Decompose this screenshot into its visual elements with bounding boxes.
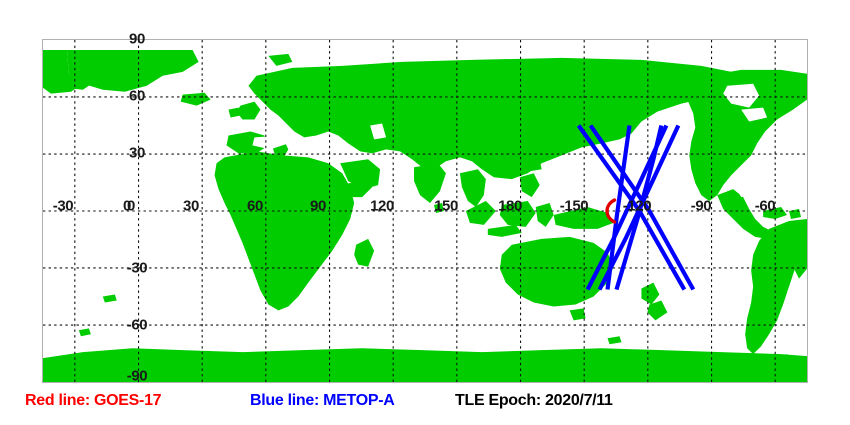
legend-metop-a: Blue line: METOP-A xyxy=(250,392,395,410)
map-canvas xyxy=(43,40,807,382)
map-plot-area xyxy=(42,39,808,383)
legend-tle-epoch: TLE Epoch: 2020/7/11 xyxy=(455,392,613,410)
legend-goes-17: Red line: GOES-17 xyxy=(25,392,161,410)
satellite-ground-track-map: -30 0 30 60 90 120 150 180 -150 -120 -90… xyxy=(0,0,850,425)
land-layer xyxy=(43,50,807,382)
map-legend: Red line: GOES-17 Blue line: METOP-A TLE… xyxy=(0,392,850,425)
